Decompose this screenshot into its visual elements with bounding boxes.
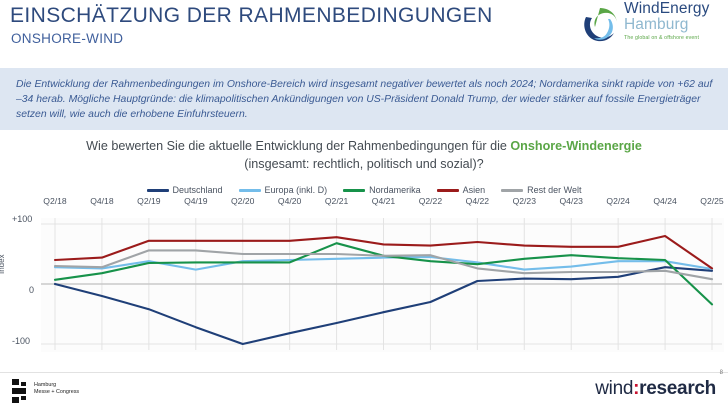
legend-swatch-icon [501, 189, 523, 192]
legend-label: Europa (inkl. D) [265, 185, 328, 195]
legend-label: Rest der Welt [527, 185, 581, 195]
chart-question-title: Wie bewerten Sie die aktuelle Entwicklun… [64, 137, 664, 173]
legend-swatch-icon [147, 189, 169, 192]
chart-legend: DeutschlandEuropa (inkl. D)NordamerikaAs… [0, 185, 728, 195]
legend-label: Asien [463, 185, 486, 195]
wr-part-1: wind [595, 378, 633, 399]
wind-research-logo: wind:research [595, 378, 716, 400]
footer-divider [0, 372, 728, 373]
chart-title-accent1: Onshore- [510, 139, 566, 153]
legend-label: Nordamerika [369, 185, 421, 195]
windenergy-swirl-icon [580, 5, 620, 45]
page-number: 8 [720, 370, 723, 376]
chart-plot-area: Q2/18Q4/18Q2/19Q4/19Q2/20Q4/20Q2/21Q4/21… [0, 196, 728, 356]
legend-item-nordamerika: Nordamerika [343, 185, 421, 195]
chart-title-part2: (insgesamt: rechtlich, politisch und soz… [244, 157, 483, 171]
hamburg-messe-congress-logo [10, 379, 150, 403]
legend-item-rest-der-welt: Rest der Welt [501, 185, 581, 195]
logo-line-1: WindEnergy [624, 1, 709, 17]
logo-line-2: Hamburg [624, 17, 709, 33]
logo-wordmark: WindEnergy Hamburg The global on & offsh… [624, 1, 709, 42]
chart-title-accent2: Windenergie [566, 139, 641, 153]
hamburg-messe-congress-wordmark: Hamburg Messe + Congress [34, 382, 79, 396]
line-chart-svg [0, 196, 728, 356]
wr-part-2: research [639, 378, 716, 399]
chart-title-part1: Wie bewerten Sie die aktuelle Entwicklun… [86, 139, 510, 153]
hmc-line-1: Hamburg [34, 382, 79, 389]
page-subtitle: ONSHORE-WIND [11, 31, 123, 46]
summary-callout-text: Die Entwicklung der Rahmenbedingungen im… [16, 77, 716, 122]
legend-swatch-icon [239, 189, 261, 192]
legend-item-asien: Asien [437, 185, 486, 195]
slide-root: EINSCHÄTZUNG DER RAHMENBEDINGUNGEN ONSHO… [0, 0, 728, 409]
hmc-line-2: Messe + Congress [34, 389, 79, 396]
legend-swatch-icon [437, 189, 459, 192]
summary-callout-box: Die Entwicklung der Rahmenbedingungen im… [0, 68, 728, 130]
page-title: EINSCHÄTZUNG DER RAHMENBEDINGUNGEN [10, 4, 493, 28]
windenergy-hamburg-logo: WindEnergy Hamburg The global on & offsh… [580, 2, 720, 52]
legend-item-europa-inkl-d: Europa (inkl. D) [239, 185, 328, 195]
legend-label: Deutschland [173, 185, 223, 195]
legend-swatch-icon [343, 189, 365, 192]
logo-tagline: The global on & offshore event [624, 34, 709, 42]
legend-item-deutschland: Deutschland [147, 185, 223, 195]
slide-header: EINSCHÄTZUNG DER RAHMENBEDINGUNGEN ONSHO… [0, 0, 728, 62]
